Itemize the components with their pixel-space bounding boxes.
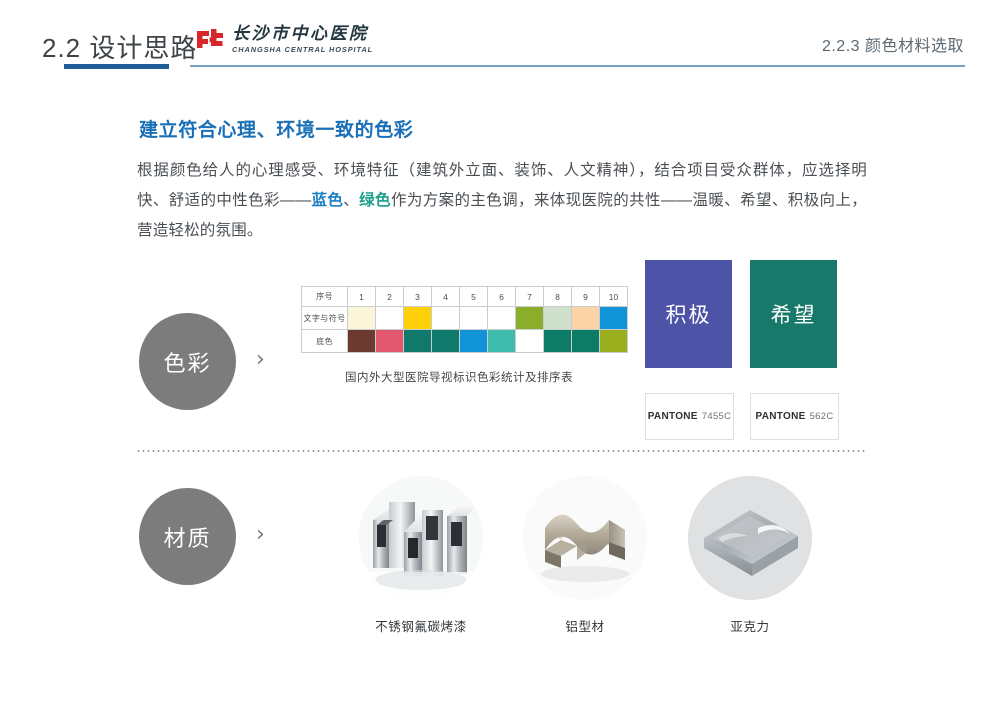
chevron-right-icon-material: ›	[256, 522, 265, 547]
table-text-color-cell-7	[544, 307, 572, 330]
table-row-text-symbol: 文字与符号	[302, 307, 628, 330]
table-text-color-cell-3	[432, 307, 460, 330]
hospital-name-en: CHANGSHA CENTRAL HOSPITAL	[232, 46, 373, 53]
table-label-text-symbol: 文字与符号	[302, 307, 348, 330]
row-badge-color-label: 色彩	[163, 346, 211, 378]
table-bg-color-cell-7	[544, 330, 572, 353]
table-index-cell-5: 6	[488, 287, 516, 307]
header-accent-bar	[64, 64, 169, 69]
pantone-card-0: PANTONE 7455C	[645, 393, 734, 440]
table-index-cell-6: 7	[516, 287, 544, 307]
table-index-cell-8: 9	[572, 287, 600, 307]
table-text-color-cell-6	[516, 307, 544, 330]
material-item-2: 亚克力	[688, 476, 812, 635]
pantone-card-1-code: 562C	[810, 411, 834, 422]
pantone-swatch-0: 积极	[645, 260, 732, 368]
hospital-logo-text: 长沙市中心医院 CHANGSHA CENTRAL HOSPITAL	[232, 26, 373, 53]
material-item-0: 不锈钢氟碳烤漆	[359, 476, 483, 635]
table-bg-color-cell-2	[404, 330, 432, 353]
hospital-name-cn: 长沙市中心医院	[232, 26, 373, 43]
header-subtitle: 2.2.3 颜色材料选取	[822, 32, 964, 56]
table-index-cell-9: 10	[600, 287, 628, 307]
material-item-1-label: 铝型材	[523, 616, 647, 635]
pantone-swatch-0-word: 积极	[666, 299, 712, 329]
hospital-logo-mark-icon	[196, 27, 226, 53]
table-index-cell-0: 1	[348, 287, 376, 307]
material-item-2-label: 亚克力	[688, 616, 812, 635]
aluminium-profile-icon	[523, 476, 647, 600]
material-item-0-label: 不锈钢氟碳烤漆	[359, 616, 483, 635]
table-bg-color-cell-1	[376, 330, 404, 353]
section-divider	[136, 450, 866, 452]
pantone-swatch-1: 希望	[750, 260, 837, 368]
table-text-color-cell-2	[404, 307, 432, 330]
table-text-color-cell-8	[572, 307, 600, 330]
page-header: 2.2 设计思路 长沙市中心医院 CHANGSHA CENTRAL HOSPIT…	[0, 0, 1000, 80]
table-bg-color-cell-0	[348, 330, 376, 353]
table-text-color-cell-9	[600, 307, 628, 330]
table-row-index: 序号12345678910	[302, 287, 628, 307]
table-index-cell-1: 2	[376, 287, 404, 307]
table-index-cell-7: 8	[544, 287, 572, 307]
table-bg-color-cell-5	[488, 330, 516, 353]
header-title: 2.2 设计思路	[42, 28, 197, 65]
table-label-background: 底色	[302, 330, 348, 353]
table-bg-color-cell-8	[572, 330, 600, 353]
table-text-color-cell-4	[460, 307, 488, 330]
material-item-1: 铝型材	[523, 476, 647, 635]
steel-tube-icon	[359, 476, 483, 600]
table-index-cell-3: 4	[432, 287, 460, 307]
header-rule	[190, 65, 965, 67]
table-bg-color-cell-4	[460, 330, 488, 353]
table-text-color-cell-0	[348, 307, 376, 330]
hospital-logo: 长沙市中心医院 CHANGSHA CENTRAL HOSPITAL	[196, 26, 373, 53]
row-badge-material: 材质	[139, 488, 236, 585]
color-statistics-table: 序号12345678910 文字与符号 底色	[301, 286, 628, 353]
paragraph-separator: 、	[343, 192, 359, 209]
table-text-color-cell-1	[376, 307, 404, 330]
pantone-card-0-code: 7455C	[702, 411, 732, 422]
table-bg-color-cell-6	[516, 330, 544, 353]
color-table-caption: 国内外大型医院导视标识色彩统计及排序表	[301, 369, 617, 385]
row-badge-material-label: 材质	[163, 521, 211, 553]
pantone-card-1: PANTONE 562C	[750, 393, 839, 440]
keyword-blue: 蓝色	[311, 192, 343, 209]
section-paragraph: 根据颜色给人的心理感受、环境特征（建筑外立面、装饰、人文精神），结合项目受众群体…	[137, 156, 867, 246]
table-bg-color-cell-9	[600, 330, 628, 353]
pantone-card-1-brand: PANTONE	[756, 411, 806, 422]
table-text-color-cell-5	[488, 307, 516, 330]
section-title: 建立符合心理、环境一致的色彩	[139, 115, 413, 142]
acrylic-sheet-icon	[688, 476, 812, 600]
chevron-right-icon-color: ›	[256, 347, 265, 372]
table-index-cell-4: 5	[460, 287, 488, 307]
pantone-swatch-1-word: 希望	[771, 299, 817, 329]
keyword-green: 绿色	[359, 192, 391, 209]
table-label-index: 序号	[302, 287, 348, 307]
row-badge-color: 色彩	[139, 313, 236, 410]
pantone-card-0-brand: PANTONE	[648, 411, 698, 422]
table-index-cell-2: 3	[404, 287, 432, 307]
table-bg-color-cell-3	[432, 330, 460, 353]
table-row-background: 底色	[302, 330, 628, 353]
